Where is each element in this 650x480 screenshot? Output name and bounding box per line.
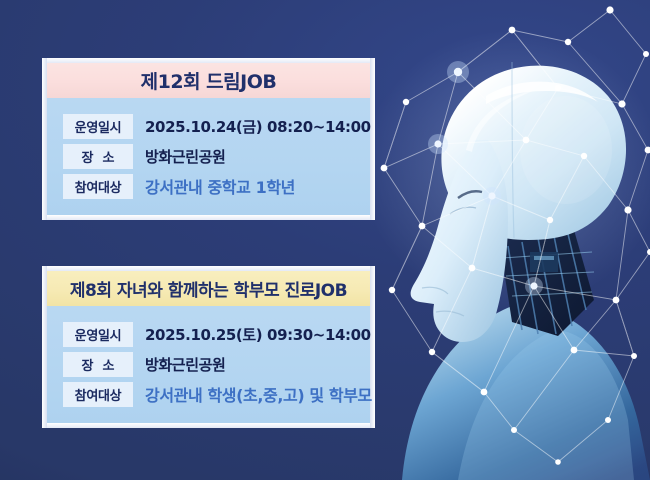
- info-row: 참여대상 강서관내 학생(초,중,고) 및 학부모: [47, 379, 370, 409]
- info-row: 장소 방화근린공원: [47, 141, 370, 171]
- row-value-schedule: 2025.10.24(금) 08:20~14:00: [145, 116, 371, 137]
- poster-canvas: 제12회 드림JOB 운영일시 2025.10.24(금) 08:20~14:0…: [0, 0, 650, 480]
- info-row: 참여대상 강서관내 중학교 1학년: [47, 171, 370, 201]
- card-frame-bottom: [42, 423, 375, 428]
- row-label-participants: 참여대상: [63, 382, 133, 407]
- row-value-venue: 방화근린공원: [145, 146, 225, 167]
- info-row: 운영일시 2025.10.24(금) 08:20~14:00: [47, 111, 370, 141]
- info-row: 장소 방화근린공원: [47, 349, 370, 379]
- card-title: 제8회 자녀와 함께하는 학부모 진로JOB: [47, 271, 370, 306]
- row-value-participants: 강서관내 중학교 1학년: [145, 174, 295, 198]
- row-label-venue: 장소: [63, 144, 133, 169]
- row-value-venue: 방화근린공원: [145, 354, 225, 375]
- row-label-schedule: 운영일시: [63, 322, 133, 347]
- card-frame-right: [370, 58, 375, 220]
- card-body: 운영일시 2025.10.24(금) 08:20~14:00 장소 방화근린공원…: [47, 98, 370, 215]
- info-row: 운영일시 2025.10.25(토) 09:30~14:00: [47, 319, 370, 349]
- row-label-venue: 장소: [63, 352, 133, 377]
- row-value-schedule: 2025.10.25(토) 09:30~14:00: [145, 324, 371, 345]
- program-card-dream-job: 제12회 드림JOB 운영일시 2025.10.24(금) 08:20~14:0…: [47, 63, 370, 215]
- card-title: 제12회 드림JOB: [47, 63, 370, 98]
- row-value-participants: 강서관내 학생(초,중,고) 및 학부모: [145, 382, 372, 406]
- row-label-participants: 참여대상: [63, 174, 133, 199]
- card-body: 운영일시 2025.10.25(토) 09:30~14:00 장소 방화근린공원…: [47, 306, 370, 423]
- row-label-schedule: 운영일시: [63, 114, 133, 139]
- card-frame-bottom: [42, 215, 375, 220]
- program-card-parent-career-job: 제8회 자녀와 함께하는 학부모 진로JOB 운영일시 2025.10.25(토…: [47, 271, 370, 423]
